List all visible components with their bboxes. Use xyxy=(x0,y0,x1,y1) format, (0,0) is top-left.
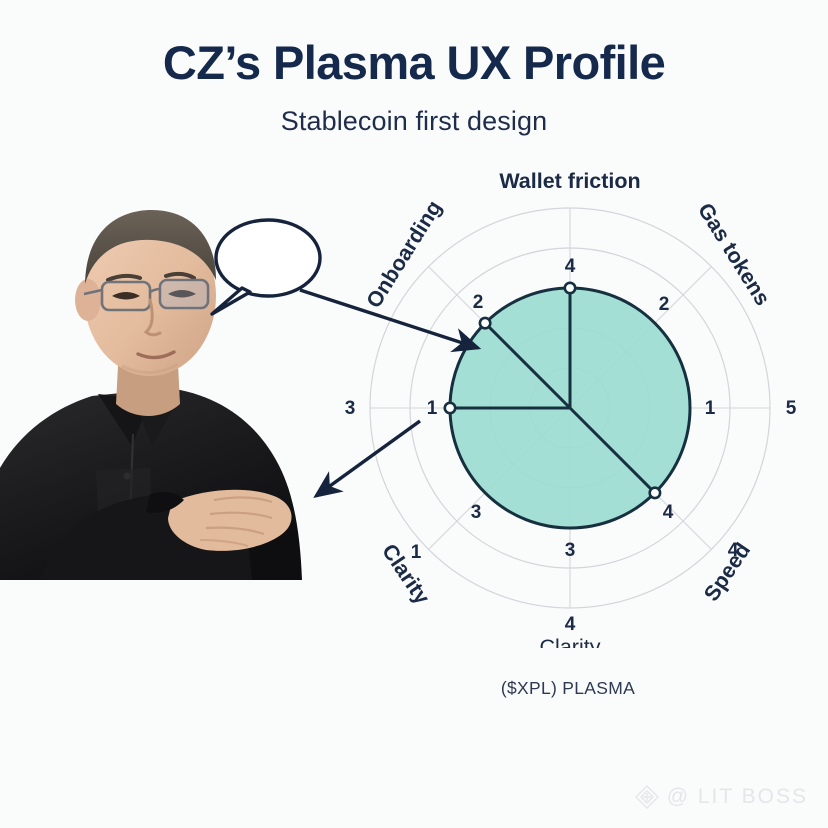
tick-left-inner: 1 xyxy=(427,398,438,419)
tick-gas-tokens: 2 xyxy=(659,294,670,315)
tick-outer-lower-left: 1 xyxy=(411,542,422,563)
tick-speed: 4 xyxy=(663,502,674,523)
infographic-canvas: CZ’s Plasma UX Profile Stablecoin first … xyxy=(0,0,828,828)
page-subtitle: Stablecoin first design xyxy=(0,106,828,137)
axis-label-clarity-bottom: Clarity xyxy=(540,635,601,648)
axis-label-onboarding: Onboarding xyxy=(362,196,447,312)
tick-lower-left: 3 xyxy=(471,502,482,523)
axis-label-wallet-friction: Wallet friction xyxy=(499,169,640,193)
tick-onboarding: 2 xyxy=(473,292,484,313)
tick-right-inner: 1 xyxy=(705,398,716,419)
tick-outer-right: 5 xyxy=(786,398,797,419)
radar-chart: 4 2 2 1 1 3 3 4 3 5 4 4 1 Wallet frictio… xyxy=(328,158,812,648)
axis-label-clarity-lower-left: Clarity xyxy=(377,540,434,609)
avatar xyxy=(0,188,320,580)
tick-wallet-friction: 4 xyxy=(565,256,576,277)
watermark-handle: @ LIT BOSS xyxy=(667,785,808,809)
watermark: @ LIT BOSS xyxy=(634,784,808,810)
page-title: CZ’s Plasma UX Profile xyxy=(0,38,828,87)
tick-bottom-inner: 3 xyxy=(565,540,576,561)
tick-outer-bottom: 4 xyxy=(565,614,576,635)
portrait-photo-illustration xyxy=(0,188,320,580)
chart-caption: ($XPL) PLASMA xyxy=(378,678,758,699)
tick-outer-left: 3 xyxy=(345,398,356,419)
diamond-logo-icon xyxy=(634,784,660,810)
